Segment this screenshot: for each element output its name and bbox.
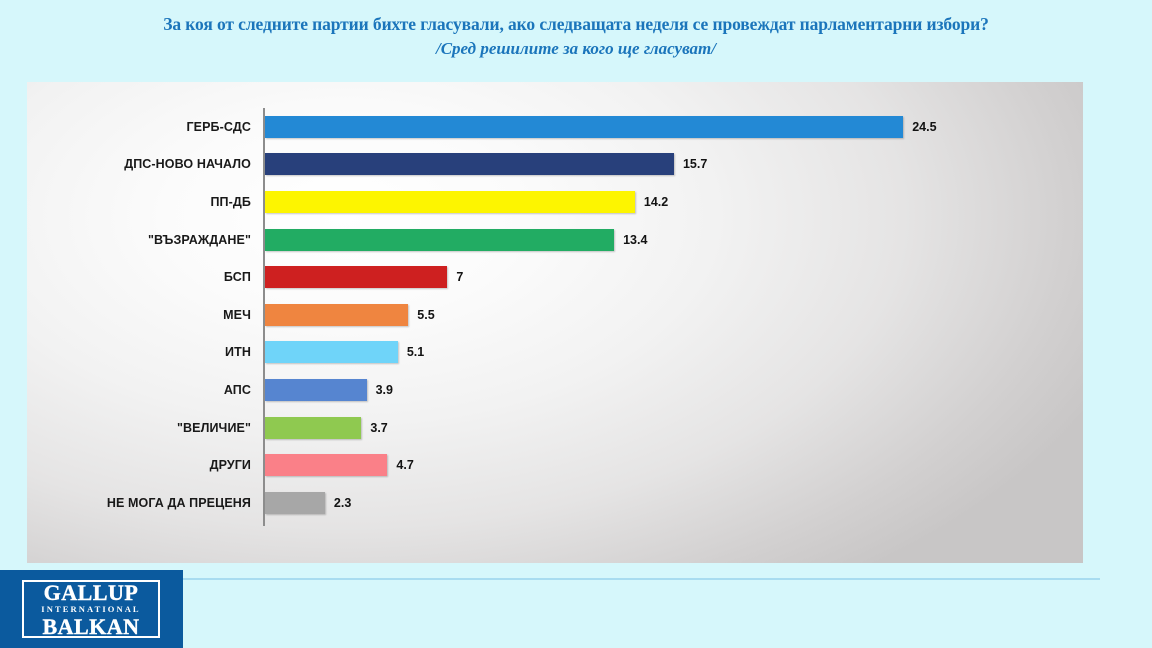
logo-frame: GALLUP INTERNATIONAL BALKAN <box>22 580 160 638</box>
title-block: За коя от следните партии бихте гласувал… <box>0 12 1152 61</box>
bar-segment <box>265 379 367 401</box>
page-subtitle: /Сред решилите за кого ще гласуват/ <box>0 37 1152 61</box>
bar-row: ДРУГИ4.7 <box>27 446 1083 484</box>
footer-divider <box>180 578 1100 580</box>
bar-value-label: 5.1 <box>407 345 424 359</box>
bar-category-label: НЕ МОГА ДА ПРЕЦЕНЯ <box>107 496 263 510</box>
bar-value-label: 3.7 <box>370 421 387 435</box>
bar-value-label: 7 <box>456 270 463 284</box>
gallup-balkan-logo: GALLUP INTERNATIONAL BALKAN <box>0 570 183 648</box>
bar-value-label: 2.3 <box>334 496 351 510</box>
chart-panel: ГЕРБ-СДС24.5ДПС-НОВО НАЧАЛО15.7ПП-ДБ14.2… <box>27 82 1083 563</box>
bar-segment <box>265 341 398 363</box>
bar-value-label: 15.7 <box>683 157 707 171</box>
page-title: За коя от следните партии бихте гласувал… <box>0 12 1152 36</box>
bar-category-label: ДПС-НОВО НАЧАЛО <box>124 157 263 171</box>
bar-row: "ВЪЗРАЖДАНЕ"13.4 <box>27 221 1083 259</box>
bar-row: "ВЕЛИЧИЕ"3.7 <box>27 409 1083 447</box>
bar-category-label: ГЕРБ-СДС <box>186 120 263 134</box>
bar-chart-plot-area: ГЕРБ-СДС24.5ДПС-НОВО НАЧАЛО15.7ПП-ДБ14.2… <box>27 82 1083 563</box>
bar-segment <box>265 266 447 288</box>
bar-segment <box>265 492 325 514</box>
bar-category-label: БСП <box>224 270 263 284</box>
bar-segment <box>265 229 614 251</box>
bar-segment <box>265 116 903 138</box>
bar-segment <box>265 417 361 439</box>
bar-row: ГЕРБ-СДС24.5 <box>27 108 1083 146</box>
bar-row: АПС3.9 <box>27 371 1083 409</box>
bar-category-label: "ВЪЗРАЖДАНЕ" <box>148 233 263 247</box>
bar-segment <box>265 304 408 326</box>
bar-category-label: ДРУГИ <box>210 458 263 472</box>
bar-category-label: ИТН <box>225 345 263 359</box>
bar-segment <box>265 191 635 213</box>
bar-value-label: 24.5 <box>912 120 936 134</box>
bar-category-label: ПП-ДБ <box>210 195 263 209</box>
bar-segment <box>265 153 674 175</box>
bar-row: ПП-ДБ14.2 <box>27 183 1083 221</box>
bar-value-label: 13.4 <box>623 233 647 247</box>
bar-row: ИТН5.1 <box>27 334 1083 372</box>
bar-value-label: 3.9 <box>376 383 393 397</box>
bar-category-label: МЕЧ <box>223 308 263 322</box>
bar-category-label: АПС <box>224 383 263 397</box>
logo-text-gallup: GALLUP <box>44 582 139 603</box>
bar-row: ДПС-НОВО НАЧАЛО15.7 <box>27 146 1083 184</box>
bar-category-label: "ВЕЛИЧИЕ" <box>177 421 263 435</box>
bar-row: БСП7 <box>27 258 1083 296</box>
bar-value-label: 4.7 <box>396 458 413 472</box>
bar-value-label: 14.2 <box>644 195 668 209</box>
bar-segment <box>265 454 387 476</box>
bar-value-label: 5.5 <box>417 308 434 322</box>
bar-row: НЕ МОГА ДА ПРЕЦЕНЯ2.3 <box>27 484 1083 522</box>
bar-row: МЕЧ5.5 <box>27 296 1083 334</box>
logo-text-balkan: BALKAN <box>42 616 139 637</box>
